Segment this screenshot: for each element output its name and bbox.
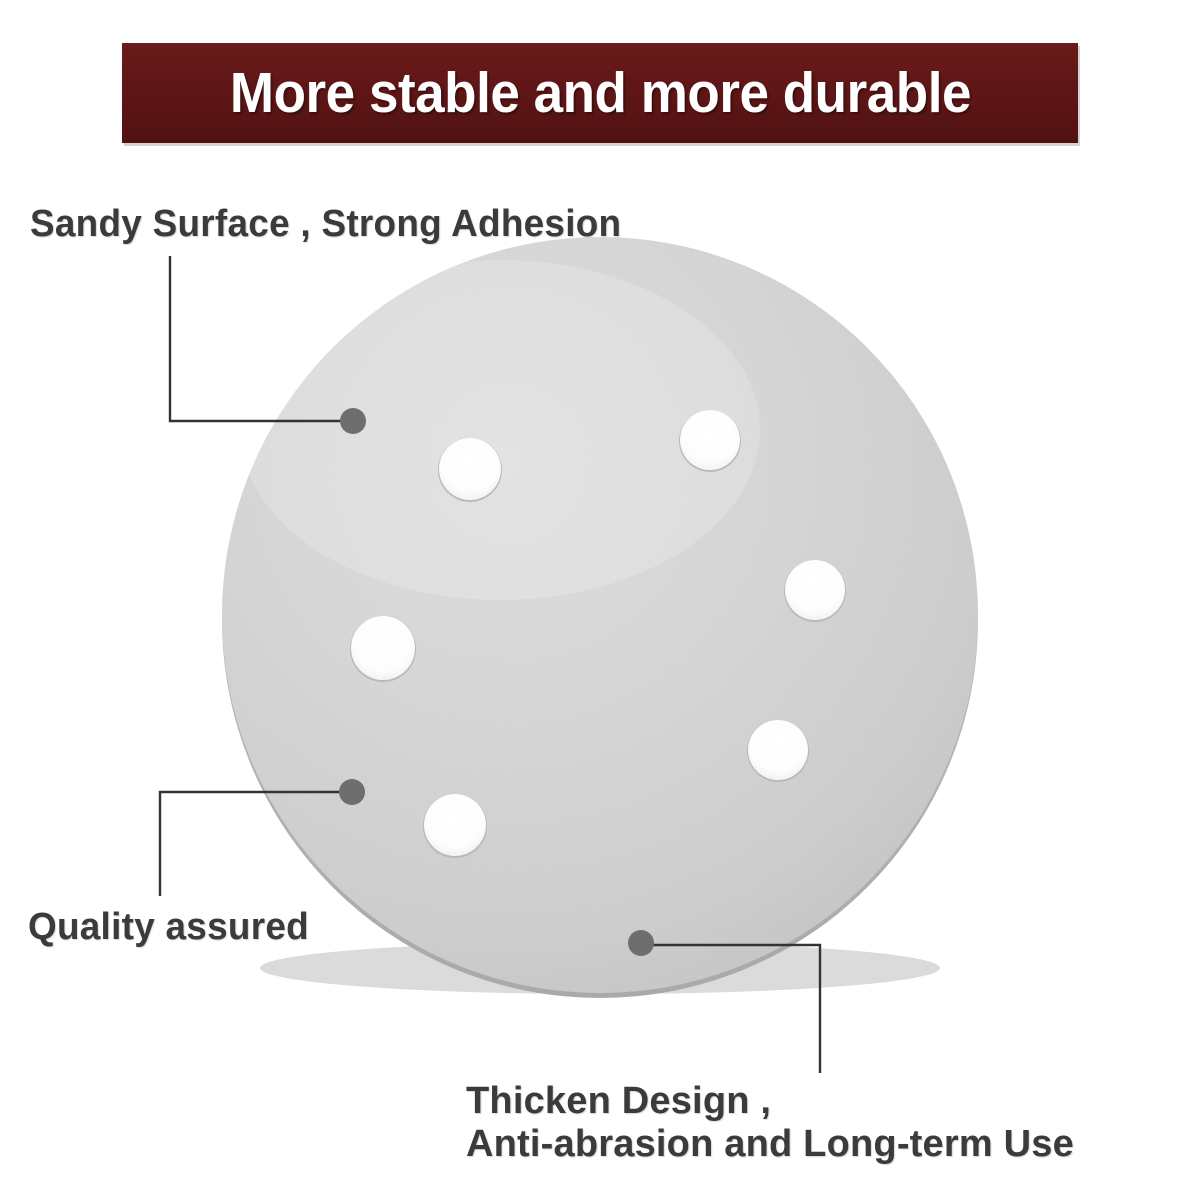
leader-thicken-design — [628, 930, 820, 1073]
leader-quality-assured — [160, 779, 365, 896]
leader-dot-thicken-design — [628, 930, 654, 956]
callout-label-sandy-surface: Sandy Surface , Strong Adhesion — [30, 203, 621, 246]
callout-label-quality-assured: Quality assured — [28, 906, 309, 949]
callout-label-thicken-design-line1: Thicken Design , — [466, 1080, 771, 1122]
leader-line-quality-assured — [160, 792, 352, 896]
callout-label-thicken-design-line2: Anti-abrasion and Long-term Use — [466, 1123, 1074, 1166]
leader-line-thicken-design — [641, 945, 820, 1073]
leader-line-sandy-surface — [170, 256, 353, 421]
callout-leader-lines — [0, 0, 1200, 1200]
infographic-canvas: More stable and more durable — [0, 0, 1200, 1200]
leader-dot-quality-assured — [339, 779, 365, 805]
callout-label-thicken-design: Thicken Design , Anti-abrasion and Long-… — [466, 1080, 1074, 1165]
leader-sandy-surface — [170, 256, 366, 434]
leader-dot-sandy-surface — [340, 408, 366, 434]
